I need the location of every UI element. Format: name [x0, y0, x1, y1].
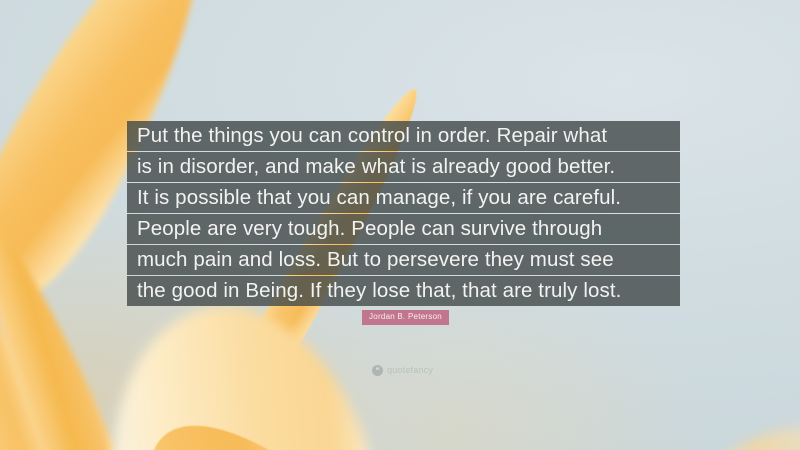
quote-line: People are very tough. People can surviv…	[127, 214, 680, 244]
quote-line: is in disorder, and make what is already…	[127, 152, 680, 182]
watermark-label: quotefancy	[387, 365, 433, 376]
author-attribution-badge: Jordan B. Peterson	[362, 310, 449, 325]
quote-line: Put the things you can control in order.…	[127, 121, 680, 151]
quote-poster: Put the things you can control in order.…	[0, 0, 800, 450]
quote-mark-icon: ❝	[372, 365, 383, 376]
quote-line: much pain and loss. But to persevere the…	[127, 245, 680, 275]
quote-line: the good in Being. If they lose that, th…	[127, 276, 680, 306]
quote-line: It is possible that you can manage, if y…	[127, 183, 680, 213]
watermark: ❝ quotefancy	[372, 365, 433, 376]
quote-text-block: Put the things you can control in order.…	[127, 121, 680, 307]
